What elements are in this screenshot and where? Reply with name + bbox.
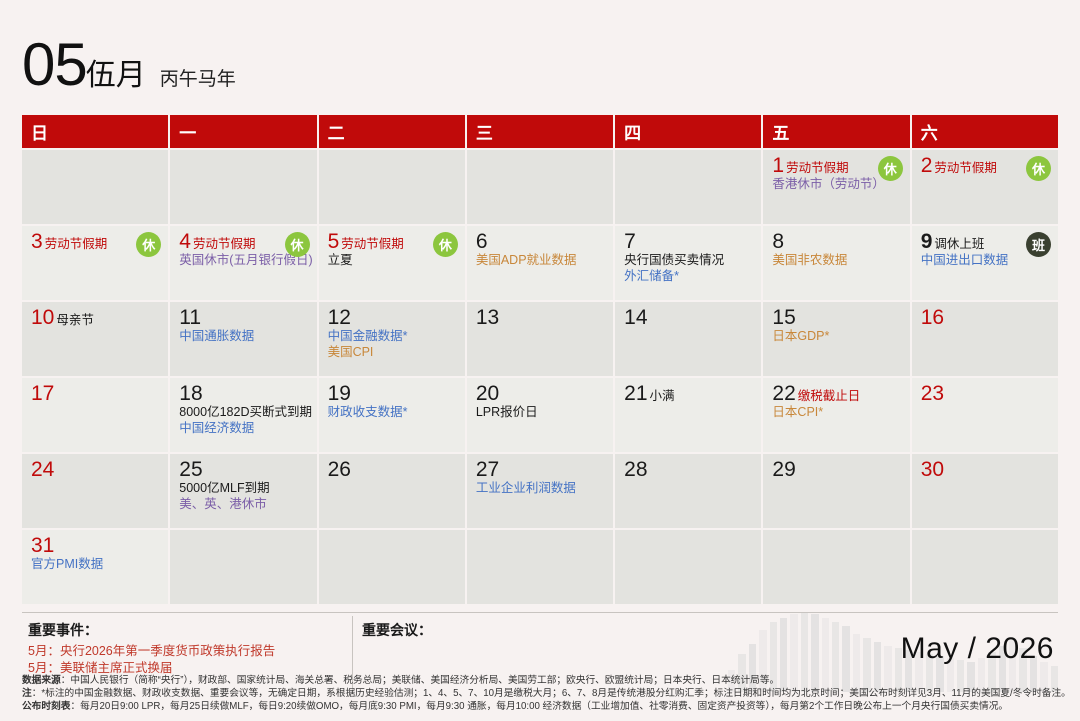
holiday-badge-icon: 休 [878,156,903,181]
day-event-0: 中国金融数据* [328,329,458,345]
holiday-badge-icon: 休 [1026,156,1051,181]
day-number: 20 [476,383,499,405]
day-event-0: 工业企业利润数据 [476,481,606,497]
day-event-0: 日本GDP* [772,329,902,345]
day-event-0: 日本CPI* [772,405,902,421]
calendar-day-19[interactable]: 19财政收支数据* [319,378,465,452]
weekday-header-0: 日 [22,115,168,148]
important-event-1: 5月：央行2026年第一季度货币政策执行报告 [28,643,275,659]
calendar-day-10[interactable]: 10母亲节 [22,302,168,376]
calendar-day-3[interactable]: 3劳动节假期休 [22,226,168,300]
fineprint-schedule: 公布时刻表：每月20日9:00 LPR，每月25日续做MLF，每日9:20续做O… [22,700,1068,713]
day-label: 劳动节假期 [45,237,108,252]
footer-divider [22,612,1058,613]
holiday-badge-icon: 休 [136,232,161,257]
calendar-day-15[interactable]: 15日本GDP* [763,302,909,376]
day-label: 劳动节假期 [193,237,256,252]
day-event-0: 英国休市(五月银行假日) [179,253,309,269]
day-number: 23 [921,383,944,405]
day-number: 27 [476,459,499,481]
day-number: 28 [624,459,647,481]
day-event-1: 美国CPI [328,345,458,361]
day-label: 劳动节假期 [934,161,997,176]
weekday-header-6: 六 [912,115,1058,148]
calendar-cell-empty [170,530,316,604]
fineprint-source-text: ：中国人民银行（简称“央行”），财政部、国家统计局、海关总署、税务总局；美联储、… [61,675,779,686]
day-number: 25 [179,459,202,481]
calendar-day-28[interactable]: 28 [615,454,761,528]
day-event-0: 香港休市（劳动节） [772,177,902,193]
day-event-1: 外汇储备* [624,269,754,285]
day-number: 7 [624,231,636,253]
calendar-day-7[interactable]: 7央行国债买卖情况外汇储备* [615,226,761,300]
day-number: 15 [772,307,795,329]
day-number: 30 [921,459,944,481]
month-name-cn: 伍月 [86,61,146,91]
calendar-day-8[interactable]: 8美国非农数据 [763,226,909,300]
weekday-header-4: 四 [615,115,761,148]
calendar-day-2[interactable]: 2劳动节假期休 [912,150,1058,224]
calendar-day-24[interactable]: 24 [22,454,168,528]
day-number: 1 [772,155,784,177]
calendar-day-30[interactable]: 30 [912,454,1058,528]
day-label: 调休上班 [934,237,984,252]
day-number: 14 [624,307,647,329]
calendar-day-4[interactable]: 4劳动节假期英国休市(五月银行假日)休 [170,226,316,300]
month-year-label: May / 2026 [901,632,1054,666]
holiday-badge-icon: 休 [285,232,310,257]
day-event-0: 中国通胀数据 [179,329,309,345]
calendar-header: 05 伍月 丙午马年 [22,36,236,94]
day-number: 19 [328,383,351,405]
day-event-0: 央行国债买卖情况 [624,253,754,269]
calendar-cell-empty [763,530,909,604]
calendar-day-1[interactable]: 1劳动节假期香港休市（劳动节）休 [763,150,909,224]
day-event-0: 财政收支数据* [328,405,458,421]
day-number: 31 [31,535,54,557]
calendar-day-22[interactable]: 22缴税截止日日本CPI* [763,378,909,452]
weekday-header-2: 二 [319,115,465,148]
calendar-cell-empty [319,530,465,604]
workday-badge-icon: 班 [1026,232,1051,257]
calendar-cell-empty [319,150,465,224]
calendar-day-5[interactable]: 5劳动节假期立夏休 [319,226,465,300]
calendar-day-23[interactable]: 23 [912,378,1058,452]
day-event-0: 美国ADP就业数据 [476,253,606,269]
day-number: 12 [328,307,351,329]
calendar-cell-empty [912,530,1058,604]
calendar-day-25[interactable]: 255000亿MLF到期美、英、港休市 [170,454,316,528]
weekday-header-5: 五 [763,115,909,148]
day-number: 10 [31,307,54,329]
day-number: 26 [328,459,351,481]
day-number: 5 [328,231,340,253]
calendar-day-6[interactable]: 6美国ADP就业数据 [467,226,613,300]
calendar-day-16[interactable]: 16 [912,302,1058,376]
day-number: 24 [31,459,54,481]
day-number: 13 [476,307,499,329]
day-number: 2 [921,155,933,177]
day-number: 4 [179,231,191,253]
weekday-header-3: 三 [467,115,613,148]
fineprint-source-label: 数据来源 [22,675,61,686]
calendar-day-12[interactable]: 12中国金融数据*美国CPI [319,302,465,376]
day-label: 劳动节假期 [341,237,404,252]
day-number: 16 [921,307,944,329]
calendar-cell-empty [170,150,316,224]
day-number: 21 [624,383,647,405]
calendar-day-18[interactable]: 188000亿182D买断式到期中国经济数据 [170,378,316,452]
day-label: 母亲节 [56,313,94,328]
calendar-cell-empty [615,150,761,224]
ganzhi-year-label: 丙午马年 [160,69,236,91]
month-number: 05 [22,36,87,94]
important-events-heading: 重要事件： [28,620,98,640]
holiday-badge-icon: 休 [433,232,458,257]
day-event-0: 官方PMI数据 [31,557,161,573]
calendar-grid: 日一二三四五六1劳动节假期香港休市（劳动节）休2劳动节假期休3劳动节假期休4劳动… [22,115,1058,604]
fineprint-schedule-text: ：每月20日9:00 LPR，每月25日续做MLF，每日9:20续做OMO，每月… [70,701,1008,712]
calendar-page: 05 伍月 丙午马年 日一二三四五六1劳动节假期香港休市（劳动节）休2劳动节假期… [0,0,1080,721]
calendar-day-29[interactable]: 29 [763,454,909,528]
day-event-1: 美、英、港休市 [179,497,309,513]
day-event-0: 美国非农数据 [772,253,902,269]
calendar-day-11[interactable]: 11中国通胀数据 [170,302,316,376]
calendar-day-27[interactable]: 27工业企业利润数据 [467,454,613,528]
day-event-0: 8000亿182D买断式到期 [179,405,309,421]
calendar-day-13[interactable]: 13 [467,302,613,376]
day-number: 8 [772,231,784,253]
day-label: 劳动节假期 [786,161,849,176]
calendar-day-31[interactable]: 31官方PMI数据 [22,530,168,604]
day-number: 22 [772,383,795,405]
calendar-day-9[interactable]: 9调休上班中国进出口数据班 [912,226,1058,300]
calendar-day-17[interactable]: 17 [22,378,168,452]
fineprint-note-text: ：*标注的中国金融数据、财政收支数据、重要会议等，无确定日期，系根据历史经验估测… [32,688,1071,699]
fineprint-note: 注：*标注的中国金融数据、财政收支数据、重要会议等，无确定日期，系根据历史经验估… [22,687,1068,700]
fineprint-note-label: 注 [22,688,32,699]
calendar-day-20[interactable]: 20LPR报价日 [467,378,613,452]
day-event-0: LPR报价日 [476,405,606,421]
calendar-cell-empty [22,150,168,224]
day-event-1: 中国经济数据 [179,421,309,437]
weekday-header-1: 一 [170,115,316,148]
calendar-day-26[interactable]: 26 [319,454,465,528]
day-label: 缴税截止日 [798,389,861,404]
fineprint-source: 数据来源：中国人民银行（简称“央行”），财政部、国家统计局、海关总署、税务总局；… [22,674,1068,687]
fineprint-schedule-label: 公布时刻表 [22,701,70,712]
day-number: 3 [31,231,43,253]
important-meetings-heading: 重要会议： [362,620,432,640]
day-number: 18 [179,383,202,405]
day-event-0: 5000亿MLF到期 [179,481,309,497]
calendar-cell-empty [615,530,761,604]
day-number: 29 [772,459,795,481]
day-number: 6 [476,231,488,253]
day-number: 17 [31,383,54,405]
calendar-day-14[interactable]: 14 [615,302,761,376]
day-number: 11 [179,307,201,329]
day-number: 9 [921,231,933,253]
calendar-cell-empty [467,150,613,224]
calendar-cell-empty [467,530,613,604]
day-label: 小满 [650,389,675,404]
calendar-day-21[interactable]: 21小满 [615,378,761,452]
